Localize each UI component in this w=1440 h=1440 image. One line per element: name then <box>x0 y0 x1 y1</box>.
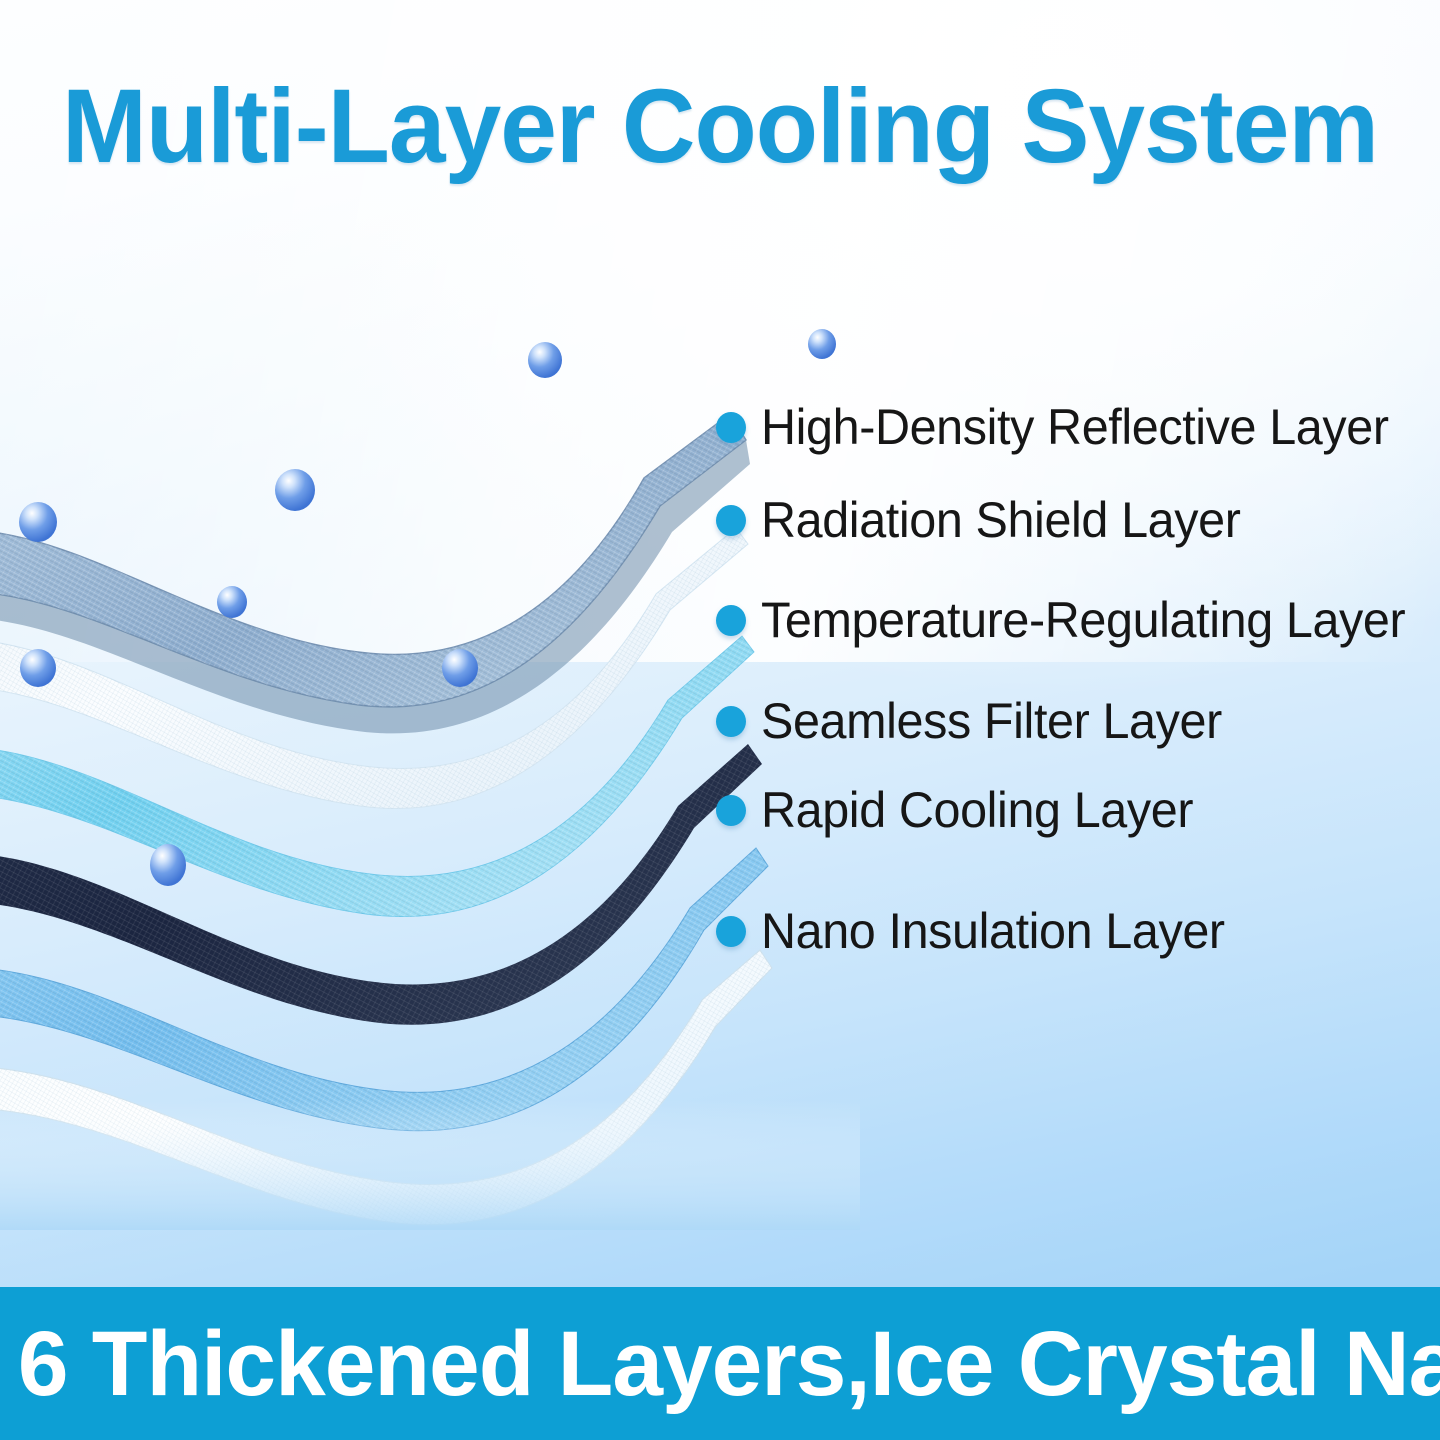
product-infographic-poster: Multi-Layer Cooling System <box>0 0 1440 1440</box>
water-droplet <box>808 329 836 359</box>
layer-callout-rapid-cooling[interactable]: Rapid Cooling Layer <box>716 781 1206 839</box>
layer-label: Nano Insulation Layer <box>761 902 1225 960</box>
bullet-dot-icon <box>716 412 746 443</box>
water-droplet <box>150 844 186 886</box>
water-droplet <box>20 649 56 687</box>
layer-label: Temperature-Regulating Layer <box>761 591 1405 649</box>
water-droplet <box>442 649 478 687</box>
layer-callout-radiation-shield[interactable]: Radiation Shield Layer <box>716 491 1255 549</box>
bullet-dot-icon <box>716 605 746 636</box>
layer-label: Radiation Shield Layer <box>761 491 1240 549</box>
water-droplet <box>19 502 57 542</box>
bullet-dot-icon <box>716 505 746 536</box>
bottom-banner: 6 Thickened Layers,Ice Crystal Nanoh <box>0 1287 1440 1440</box>
layer-label: Rapid Cooling Layer <box>761 781 1193 839</box>
water-droplet <box>275 469 315 511</box>
layer-callout-temperature-regulating[interactable]: Temperature-Regulating Layer <box>716 591 1425 649</box>
layer-callout-nano-insulation[interactable]: Nano Insulation Layer <box>716 902 1239 960</box>
page-title: Multi-Layer Cooling System <box>22 72 1419 182</box>
bullet-dot-icon <box>716 795 746 826</box>
layer-callout-seamless-filter[interactable]: Seamless Filter Layer <box>716 692 1236 750</box>
layer-label: High-Density Reflective Layer <box>761 398 1389 456</box>
layer-label: Seamless Filter Layer <box>761 692 1222 750</box>
water-droplet <box>528 342 562 378</box>
layer-callout-high-density-reflective[interactable]: High-Density Reflective Layer <box>716 398 1408 456</box>
bullet-dot-icon <box>716 706 746 737</box>
banner-headline: 6 Thickened Layers,Ice Crystal Nanoh <box>0 1318 1440 1410</box>
bullet-dot-icon <box>716 916 746 947</box>
water-droplet <box>217 586 247 618</box>
